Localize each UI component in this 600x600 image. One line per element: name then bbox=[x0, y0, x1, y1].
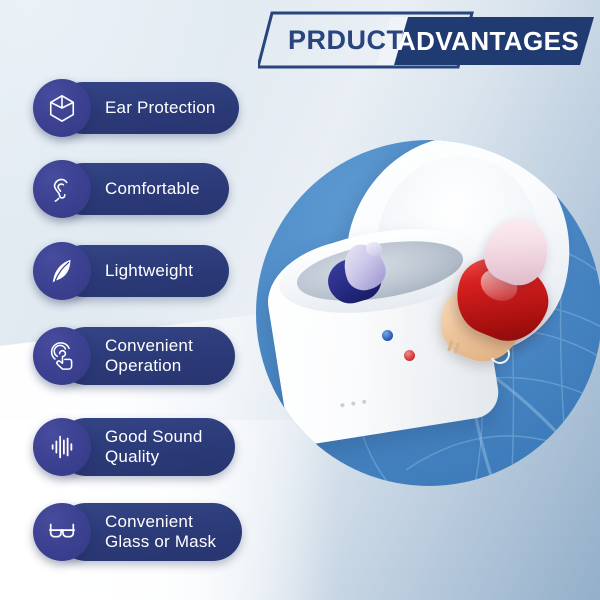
indicator-dot-red bbox=[404, 350, 415, 361]
indicator-dot-blue bbox=[382, 330, 393, 341]
feature-pill-convenient-glass-or-mask[interactable]: Convenient Glass or Mask bbox=[57, 503, 242, 561]
ear-icon bbox=[33, 160, 91, 218]
feather-icon bbox=[33, 242, 91, 300]
glasses-icon bbox=[33, 503, 91, 561]
feature-pill-good-sound-quality[interactable]: Good Sound Quality bbox=[57, 418, 235, 476]
sound-wave-icon bbox=[33, 418, 91, 476]
feature-pill-ear-protection[interactable]: Ear Protection bbox=[57, 82, 239, 134]
feature-label: Comfortable bbox=[105, 179, 200, 199]
product-photo bbox=[256, 140, 600, 486]
feature-label: Convenient Glass or Mask bbox=[105, 512, 216, 552]
feature-pill-convenient-operation[interactable]: Convenient Operation bbox=[57, 327, 235, 385]
feature-label: Lightweight bbox=[105, 261, 193, 281]
feature-label: Good Sound Quality bbox=[105, 427, 202, 467]
feature-label: Convenient Operation bbox=[105, 336, 193, 376]
header-banner: PRDUCT ADVANTAGES bbox=[258, 9, 594, 71]
feature-pill-lightweight[interactable]: Lightweight bbox=[57, 245, 229, 297]
touch-tap-icon bbox=[33, 327, 91, 385]
feature-label: Ear Protection bbox=[105, 98, 216, 118]
banner-title-right: ADVANTAGES bbox=[397, 26, 579, 57]
product-photo-circle bbox=[256, 140, 600, 486]
banner-title-left: PRDUCT bbox=[288, 25, 404, 56]
cube-icon bbox=[33, 79, 91, 137]
hearing-aid-secondary-tip bbox=[366, 242, 382, 256]
feature-pill-comfortable[interactable]: Comfortable bbox=[57, 163, 229, 215]
product-advantages-poster: PRDUCT ADVANTAGES bbox=[0, 0, 600, 600]
